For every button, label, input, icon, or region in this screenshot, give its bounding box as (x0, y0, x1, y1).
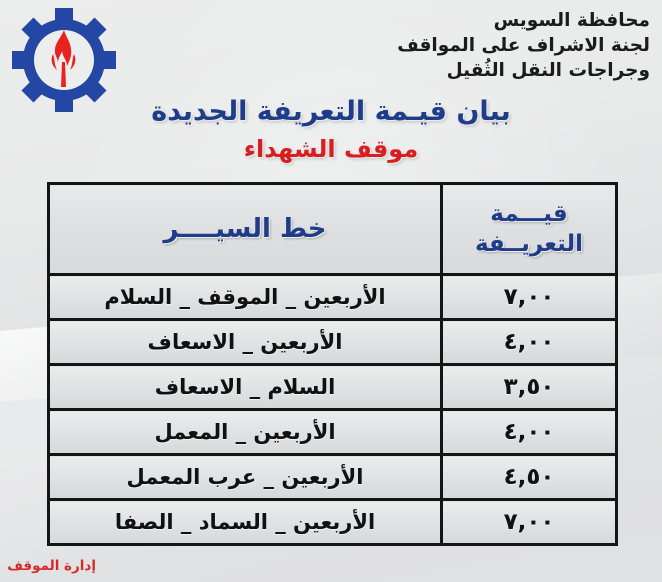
cell-route: الأربعين _ الاسعاف (49, 320, 442, 365)
organization-lines: محافظة السويس لجنة الاشراف على المواقف و… (230, 8, 650, 83)
cell-route: السلام _ الاسعاف (49, 365, 442, 410)
poster-header: محافظة السويس لجنة الاشراف على المواقف و… (0, 0, 662, 172)
column-header-route: خط السيــــر (49, 184, 442, 275)
cell-fare: ٤,٥٠ (442, 455, 617, 500)
table-row: ٤,٠٠ الأربعين _ المعمل (49, 410, 617, 455)
column-header-fare: قيـــمة التعريــفة (442, 184, 617, 275)
org-line-governorate: محافظة السويس (230, 8, 650, 33)
org-line-garages: وجراجات النقل الثُقيل (230, 58, 650, 83)
org-line-committee: لجنة الاشراف على المواقف (230, 33, 650, 58)
cell-route: الأربعين _ المعمل (49, 410, 442, 455)
footer-note: إدارة الموقف (10, 558, 96, 574)
cell-route: الأربعين _ الموقف _ السلام (49, 275, 442, 320)
column-header-fare-line2: التعريــفة (443, 229, 615, 259)
page-title: بيان قيـمة التعريفة الجديدة (0, 96, 662, 127)
table-row: ٤,٠٠ الأربعين _ الاسعاف (49, 320, 617, 365)
cell-fare: ٣,٥٠ (442, 365, 617, 410)
table-row: ٤,٥٠ الأربعين _ عرب المعمل (49, 455, 617, 500)
table-row: ٧,٠٠ الأربعين _ الموقف _ السلام (49, 275, 617, 320)
cell-fare: ٤,٠٠ (442, 320, 617, 365)
cell-route: الأربعين _ السماد _ الصفا (49, 500, 442, 545)
cell-fare: ٧,٠٠ (442, 500, 617, 545)
table-row: ٣,٥٠ السلام _ الاسعاف (49, 365, 617, 410)
page-subtitle: موقف الشهداء (0, 135, 662, 163)
cell-fare: ٤,٠٠ (442, 410, 617, 455)
column-header-fare-line1: قيـــمة (443, 199, 615, 229)
cell-fare: ٧,٠٠ (442, 275, 617, 320)
table-row: ٧,٠٠ الأربعين _ السماد _ الصفا (49, 500, 617, 545)
poster-page: محافظة السويس لجنة الاشراف على المواقف و… (0, 0, 662, 582)
table-header-row: قيـــمة التعريــفة خط السيــــر (49, 184, 617, 275)
cell-route: الأربعين _ عرب المعمل (49, 455, 442, 500)
tariff-table: قيـــمة التعريــفة خط السيــــر ٧,٠٠ الأ… (47, 182, 618, 546)
